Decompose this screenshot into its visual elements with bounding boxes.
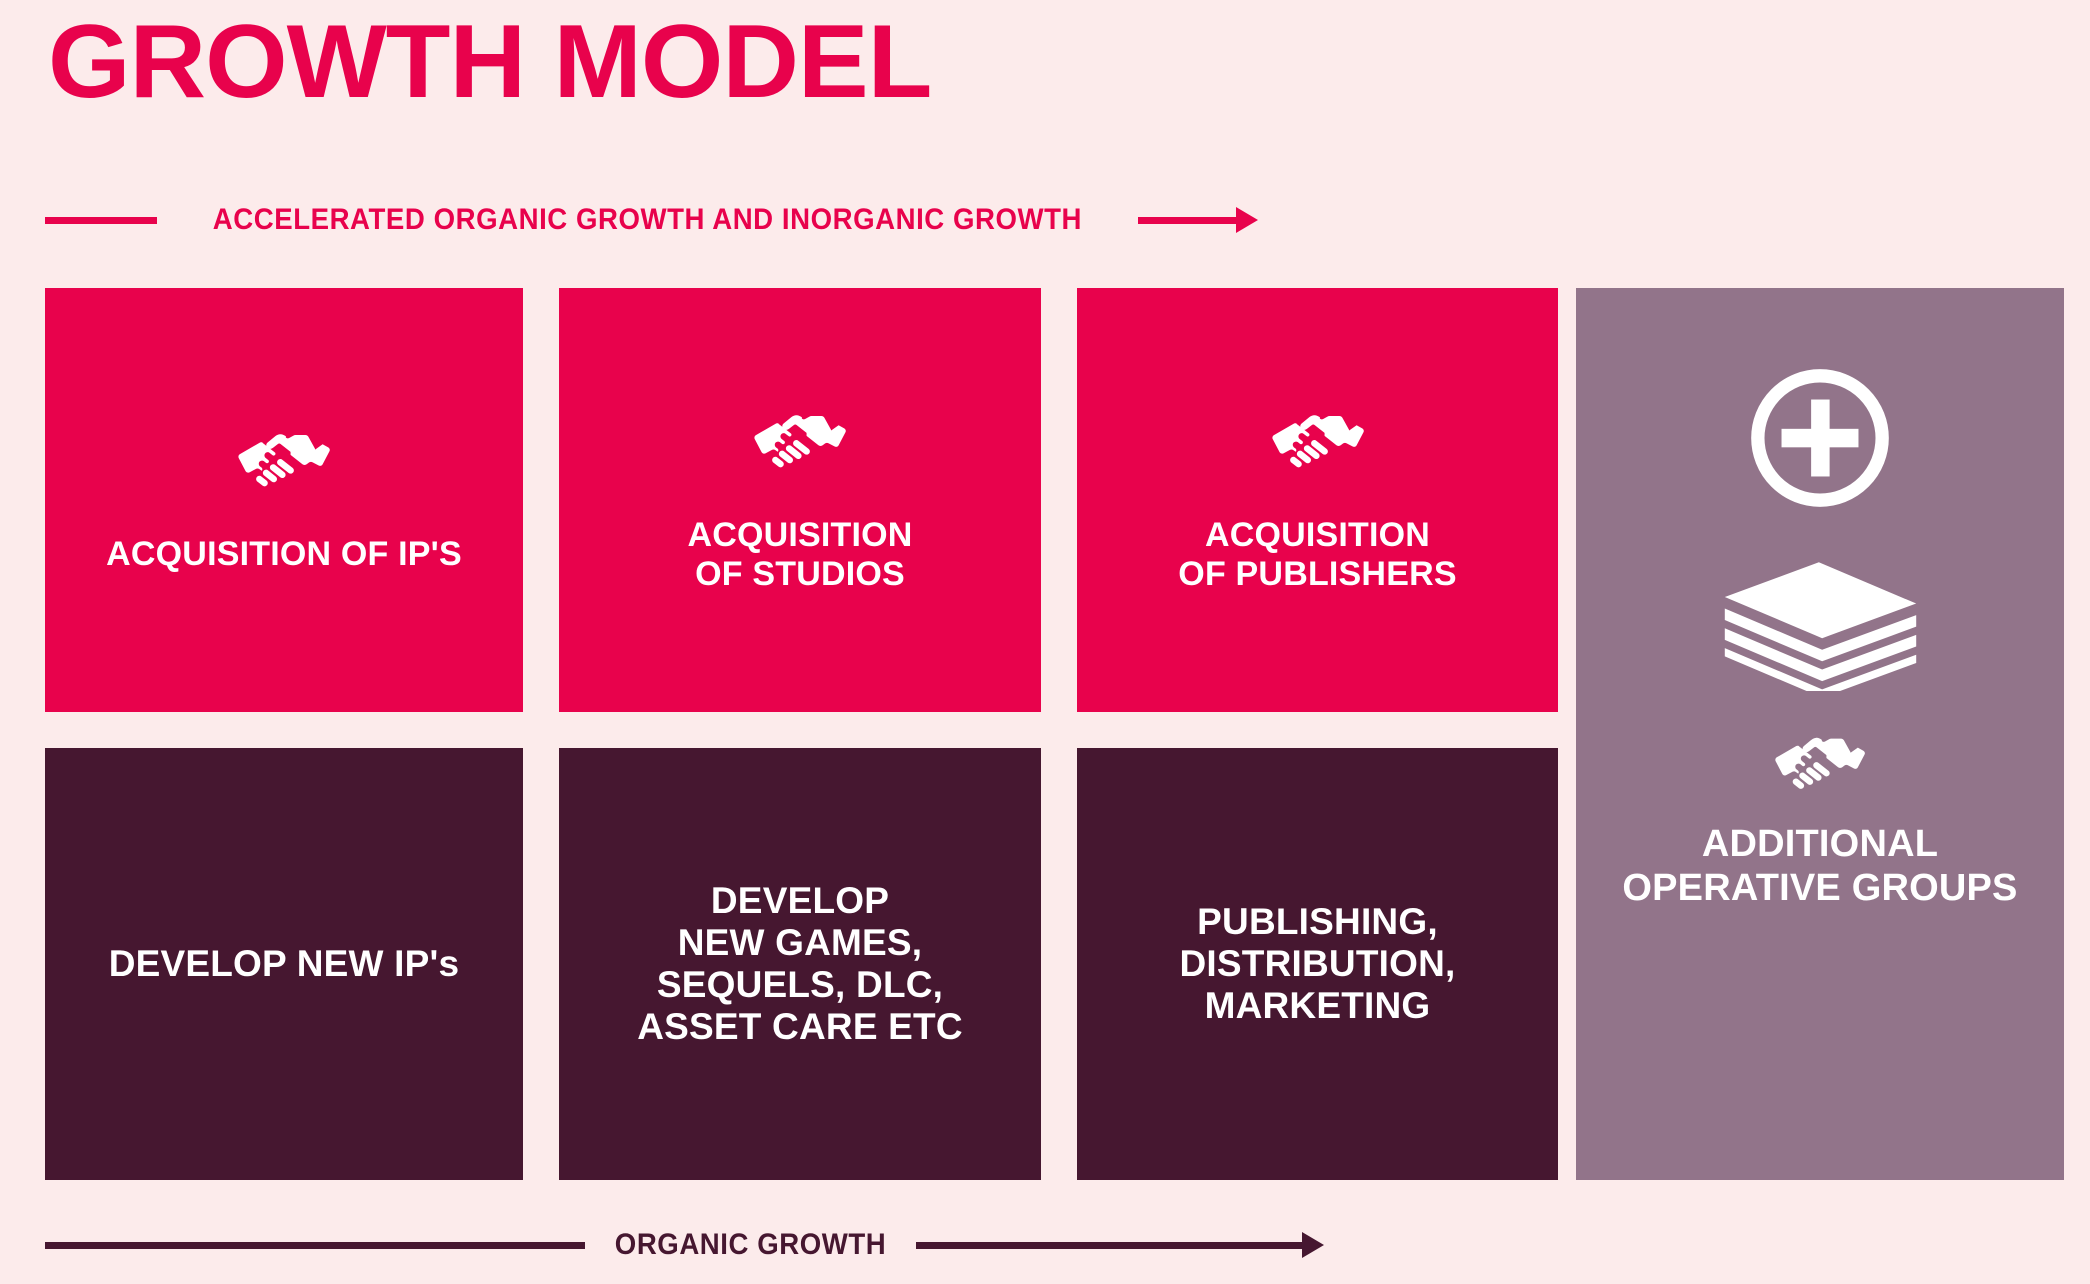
card-label: DEVELOP NEW GAMES, SEQUELS, DLC, ASSET C… — [637, 880, 963, 1049]
handshake-icon — [750, 407, 850, 486]
card-publishing-distribution-marketing[interactable]: PUBLISHING, DISTRIBUTION, MARKETING — [1077, 748, 1558, 1180]
plus-circle-icon — [1746, 364, 1894, 517]
side-panel-label: ADDITIONAL OPERATIVE GROUPS — [1622, 823, 2017, 910]
top-rail-label: ACCELERATED ORGANIC GROWTH AND INORGANIC… — [196, 203, 1098, 237]
handshake-icon — [1268, 407, 1368, 486]
top-growth-rail: ACCELERATED ORGANIC GROWTH AND INORGANIC… — [45, 203, 1258, 237]
arrow-right-icon — [1236, 207, 1258, 233]
rail-line-left — [45, 1242, 585, 1249]
card-develop-new-games[interactable]: DEVELOP NEW GAMES, SEQUELS, DLC, ASSET C… — [559, 748, 1041, 1180]
card-develop-new-ips[interactable]: DEVELOP NEW IP's — [45, 748, 523, 1180]
rail-line-right — [1138, 217, 1238, 224]
card-label: PUBLISHING, DISTRIBUTION, MARKETING — [1180, 901, 1456, 1028]
card-acquisition-of-ips[interactable]: ACQUISITION OF IP'S — [45, 288, 523, 712]
banknote-stack-icon — [1718, 559, 1923, 696]
card-acquisition-of-studios[interactable]: ACQUISITION OF STUDIOS — [559, 288, 1041, 712]
arrow-right-icon — [1302, 1232, 1324, 1258]
handshake-icon — [234, 426, 334, 505]
rail-line-left — [45, 217, 157, 224]
card-label: DEVELOP NEW IP's — [109, 943, 460, 985]
handshake-icon — [1771, 730, 1869, 807]
card-additional-operative-groups[interactable]: ADDITIONAL OPERATIVE GROUPS — [1576, 288, 2064, 1180]
card-label: ACQUISITION OF PUBLISHERS — [1178, 516, 1456, 594]
rail-line-right — [916, 1242, 1304, 1249]
card-acquisition-of-publishers[interactable]: ACQUISITION OF PUBLISHERS — [1077, 288, 1558, 712]
page-title: GROWTH MODEL — [48, 6, 931, 118]
card-label: ACQUISITION OF STUDIOS — [687, 516, 912, 594]
organic-growth-rail: ORGANIC GROWTH — [45, 1228, 1324, 1262]
bottom-rail-label: ORGANIC GROWTH — [598, 1228, 903, 1262]
card-label: ACQUISITION OF IP'S — [106, 535, 462, 574]
